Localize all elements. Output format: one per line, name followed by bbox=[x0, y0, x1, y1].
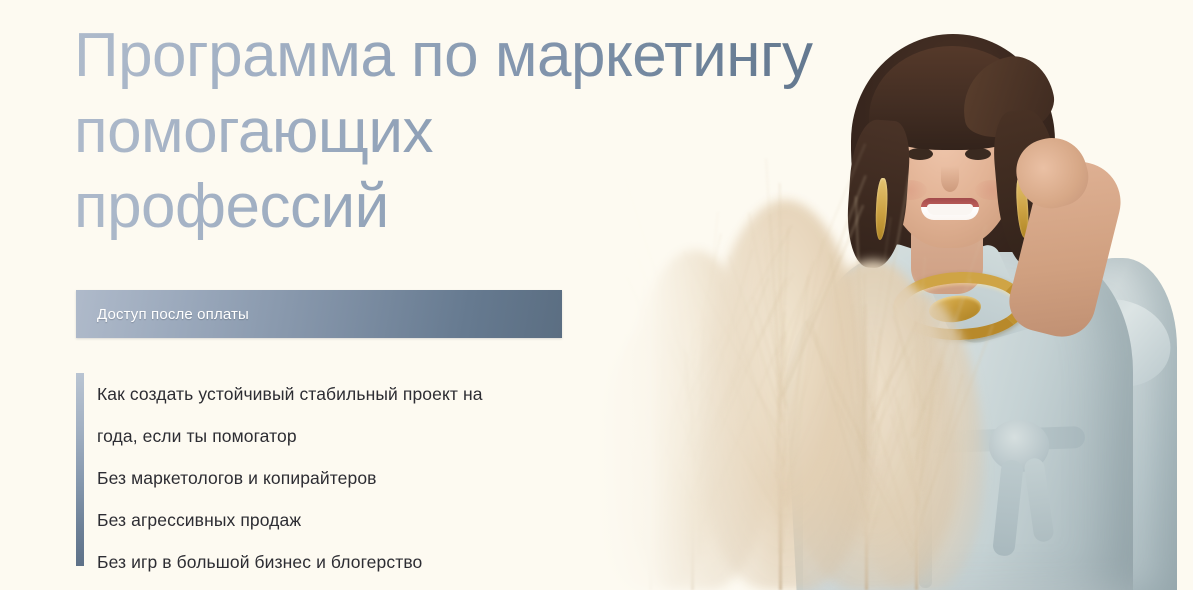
list-item: Без маркетологов и копирайтеров bbox=[97, 457, 567, 499]
hero-section: Программа по маркетингу помогающих профе… bbox=[0, 0, 1193, 590]
page-title: Программа по маркетингу помогающих профе… bbox=[74, 18, 904, 245]
access-banner[interactable]: Доступ после оплаты bbox=[76, 290, 562, 338]
headline-line-1: Программа по маркетингу bbox=[74, 18, 904, 94]
hero-content: Программа по маркетингу помогающих профе… bbox=[0, 0, 620, 590]
headline-line-3: профессий bbox=[74, 169, 904, 245]
list-item: Без агрессивных продаж bbox=[97, 499, 567, 541]
list-item: Без игр в большой бизнес и блогерство bbox=[97, 541, 567, 583]
benefits-list: Как создать устойчивый стабильный проект… bbox=[76, 373, 567, 583]
list-item: Как создать устойчивый стабильный проект… bbox=[97, 373, 527, 457]
headline-line-2: помогающих bbox=[74, 94, 904, 170]
access-banner-label: Доступ после оплаты bbox=[97, 306, 249, 323]
eye-left bbox=[907, 148, 933, 160]
